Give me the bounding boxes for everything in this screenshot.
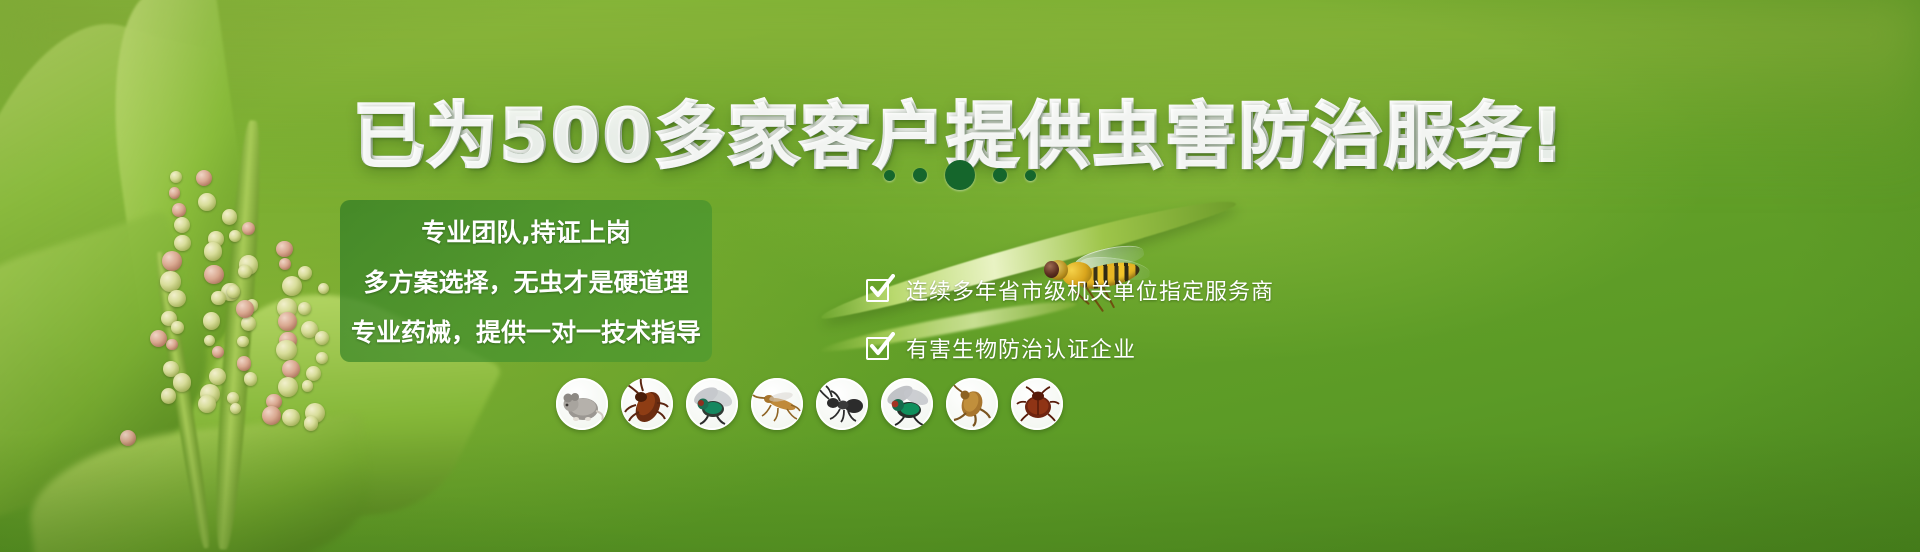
credential-text: 有害生物防治认证企业: [906, 332, 1136, 364]
selling-point-line-2: 多方案选择，无虫才是硬道理: [363, 263, 688, 299]
decor-dot-small: [884, 170, 895, 181]
credential-text: 连续多年省市级机关单位指定服务商: [906, 274, 1274, 306]
mosquito-icon[interactable]: [751, 378, 803, 430]
pest-icon-row: [556, 378, 1063, 430]
ant-icon[interactable]: [816, 378, 868, 430]
decor-dot-mid-2: [993, 168, 1007, 182]
credentials-list: 连续多年省市级机关单位指定服务商有害生物防治认证企业: [866, 274, 1274, 364]
fly-icon[interactable]: [686, 378, 738, 430]
decor-dot-big: [945, 160, 975, 190]
checkbox-checked-icon: [866, 335, 892, 361]
decor-dot-small-2: [1025, 170, 1036, 181]
flea-icon[interactable]: [946, 378, 998, 430]
mouse-icon[interactable]: [556, 378, 608, 430]
selling-point-line-1: 专业团队,持证上岗: [421, 213, 631, 249]
credential-item: 有害生物防治认证企业: [866, 332, 1274, 364]
cockroach-icon[interactable]: [621, 378, 673, 430]
background-bottom-glow: [0, 432, 1920, 552]
selling-point-line-3: 专业药械，提供一对一技术指导: [351, 313, 701, 349]
promo-banner: 已为500多家客户提供虫害防治服务! 专业团队,持证上岗 多方案选择，无虫才是硬…: [0, 0, 1920, 552]
blowfly-icon[interactable]: [881, 378, 933, 430]
credential-item: 连续多年省市级机关单位指定服务商: [866, 274, 1274, 306]
decorative-dots: [0, 160, 1920, 190]
decor-dot-mid: [913, 168, 927, 182]
bedbug-icon[interactable]: [1011, 378, 1063, 430]
checkbox-checked-icon: [866, 277, 892, 303]
selling-points-panel: 专业团队,持证上岗 多方案选择，无虫才是硬道理 专业药械，提供一对一技术指导: [340, 200, 712, 362]
